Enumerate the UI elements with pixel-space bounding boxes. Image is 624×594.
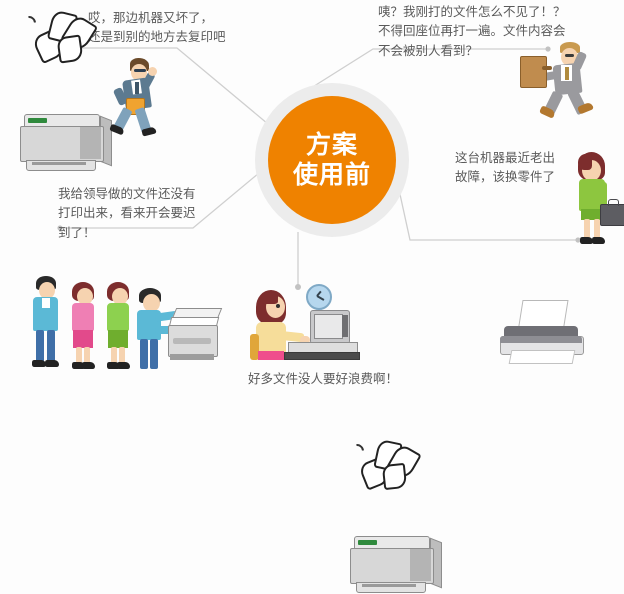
- skirt: [258, 351, 284, 360]
- paper-sheet: [56, 34, 83, 63]
- shoe-right: [82, 362, 95, 369]
- monitor-screen: [314, 314, 343, 339]
- queue-person-2: [66, 282, 104, 370]
- standing-woman-briefcase-icon: [570, 152, 624, 246]
- leg-left: [140, 339, 148, 369]
- people-queue-icon: [28, 270, 208, 370]
- printer-slot: [362, 584, 416, 587]
- callout-text-left: 我给领导做的文件还没有 打印出来，看来开会要迟 到了！: [58, 184, 196, 242]
- briefcase: [520, 56, 547, 88]
- briefcase: [600, 204, 624, 226]
- callout-text-top-left: 哎，那边机器又坏了， 还是到别的地方去复印吧: [88, 8, 226, 47]
- copier-base: [170, 354, 214, 360]
- printer-indicator-strip: [28, 118, 47, 123]
- queue-person-1: [28, 276, 68, 370]
- leg-right: [47, 330, 55, 362]
- inkjet-printer-icon: [500, 300, 584, 364]
- wall-clock-icon: [306, 284, 332, 310]
- motion-lines-icon: [347, 441, 367, 461]
- skirt: [108, 330, 128, 348]
- eye: [276, 304, 280, 308]
- copier-machine-icon: [168, 308, 222, 364]
- shoe-right: [592, 237, 605, 244]
- paper-sheet: [382, 463, 407, 490]
- woman-at-computer-icon: [250, 282, 360, 370]
- printer-shade: [80, 127, 101, 159]
- infographic-canvas: 方案 使用前 哎，那边机器又坏了， 还是到别的地方去复印吧 咦？我刚打的文件怎么…: [0, 0, 624, 403]
- shoe-right: [117, 362, 130, 369]
- arm: [121, 306, 129, 330]
- running-businessman-icon: [104, 58, 170, 136]
- hair-front: [578, 154, 592, 170]
- shoe-right: [45, 360, 59, 367]
- hub-circle: 方案 使用前: [268, 96, 396, 224]
- callout-text-right: 这台机器最近老出 故障，该换零件了: [455, 148, 555, 187]
- copier-output-tray: [173, 338, 211, 344]
- printer-output-paper: [509, 350, 576, 364]
- hub-title-line1: 方案: [306, 130, 358, 161]
- monitor-vent: [342, 315, 348, 337]
- printer-indicator-strip: [358, 540, 377, 545]
- leg-left: [584, 219, 590, 239]
- flying-papers-icon: [350, 440, 426, 490]
- leg-left: [36, 330, 44, 362]
- briefcase-handle: [608, 199, 619, 206]
- callout-text-bottom: 好多文件没人要好浪费啊！: [248, 369, 398, 388]
- leg-right: [150, 339, 158, 369]
- printer-panel: [500, 336, 582, 343]
- face-eyes: [565, 54, 574, 57]
- printer-shade: [410, 549, 431, 581]
- printer-slot: [32, 162, 86, 165]
- running-man-briefcase-icon: [520, 42, 606, 124]
- motion-lines-icon: [19, 13, 39, 33]
- clock-hand-minute: [317, 295, 325, 301]
- tie: [565, 67, 569, 80]
- glasses-icon: [134, 69, 146, 72]
- briefcase-handle: [542, 66, 552, 70]
- hair-fringe: [260, 292, 278, 304]
- laser-printer-icon: [348, 536, 444, 594]
- skirt: [73, 330, 93, 348]
- shirt-collar: [42, 298, 50, 308]
- hub-title-line2: 使用前: [293, 160, 371, 191]
- arm: [86, 306, 94, 330]
- shoe-left: [32, 360, 46, 367]
- desk-edge: [284, 352, 360, 360]
- flying-papers-icon: [22, 10, 102, 62]
- laser-printer-icon: [18, 114, 114, 172]
- tie: [135, 82, 139, 94]
- hand: [148, 67, 157, 76]
